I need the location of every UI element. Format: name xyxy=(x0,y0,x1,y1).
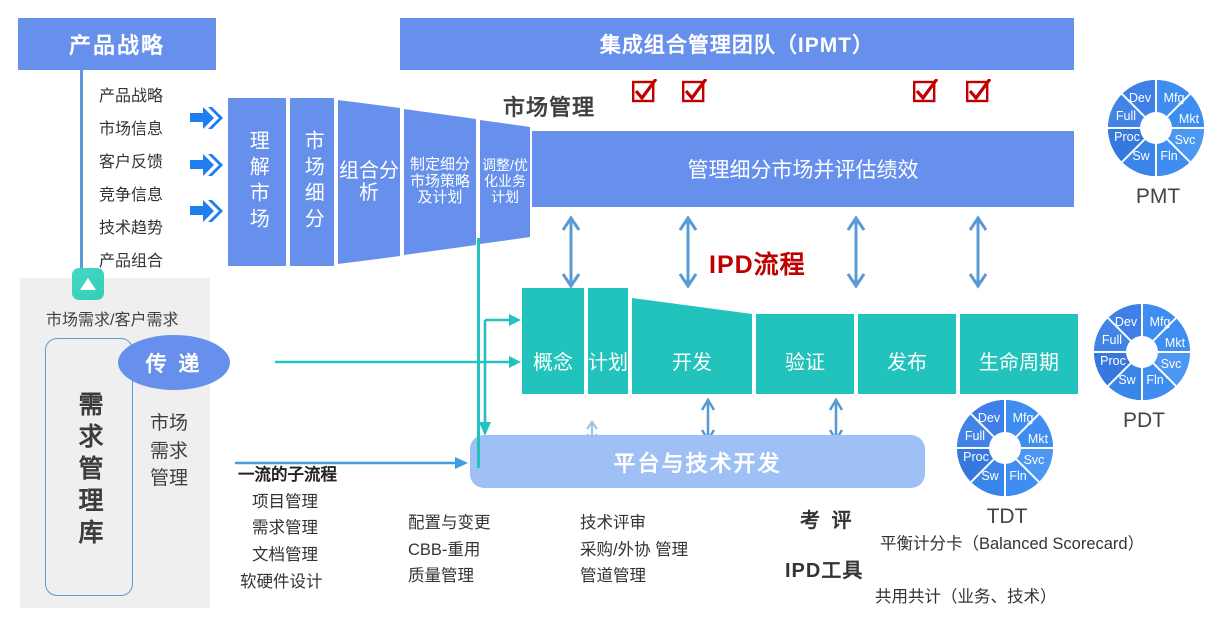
checkmark-icon xyxy=(632,79,657,103)
segment-label: Dev xyxy=(978,411,1001,425)
segment-label: Dev xyxy=(1129,91,1152,105)
product-strategy-header[interactable]: 产品战略 xyxy=(18,18,216,70)
ipd-stage-lifecycle[interactable]: 生命周期 xyxy=(960,340,1078,380)
checkmark-icon xyxy=(682,79,707,103)
team-donut-pmt[interactable]: Mfg Mkt Svc Fln Sw Proc Full Dev PMT xyxy=(1106,78,1209,209)
ipd-process-label: IPD流程 xyxy=(709,245,806,281)
segment-label: Mfg xyxy=(1164,91,1185,105)
tech-item: 管道管理 xyxy=(580,563,688,590)
subprocess-item: 软硬件设计 xyxy=(240,569,337,596)
funnel-stage-3[interactable]: 组合分析 xyxy=(338,102,400,262)
segment-label: Full xyxy=(965,429,985,443)
market-to-ipd-sync-arrows xyxy=(556,212,1076,292)
double-chevron-arrow-icon xyxy=(190,105,226,131)
config-item: CBB-重用 xyxy=(408,537,491,564)
funnel-stage-5[interactable]: 调整/优化业务计划 xyxy=(480,123,530,241)
upload-triangle-icon xyxy=(72,268,104,300)
mkt-strategy-down-connector xyxy=(477,238,480,468)
team-name-pdt: PDT xyxy=(1092,409,1196,433)
checkmark-icon xyxy=(913,79,938,103)
market-demand-mgmt-line: 需求 xyxy=(138,438,200,466)
tech-item: 采购/外协 管理 xyxy=(580,537,688,564)
ipd-stage-release[interactable]: 发布 xyxy=(858,340,956,380)
pdt-donut-icon: Mfg Mkt Svc Fln Sw Proc Full Dev xyxy=(1092,302,1192,402)
team-name-tdt: TDT xyxy=(955,505,1059,529)
market-management-label: 市场管理 xyxy=(503,90,595,122)
pmt-donut-icon: Mfg Mkt Svc Fln Sw Proc Full Dev xyxy=(1106,78,1206,178)
segment-label: Sw xyxy=(981,469,999,483)
segment-label: Full xyxy=(1116,109,1136,123)
double-chevron-arrow-icon xyxy=(190,152,226,178)
team-donut-pdt[interactable]: Mfg Mkt Svc Fln Sw Proc Full Dev PDT xyxy=(1092,302,1196,433)
platform-tech-dev-bar[interactable]: 平台与技术开发 xyxy=(470,435,925,488)
ipd-to-platform-sync-arrows xyxy=(580,396,860,440)
segment-label: Sw xyxy=(1118,373,1136,387)
tech-column: 技术评审 采购/外协 管理 管道管理 xyxy=(580,510,688,590)
demand-repository-text: 需求管理库 xyxy=(71,391,107,551)
team-name-pmt: PMT xyxy=(1106,185,1209,209)
subprocess-item: 文档管理 xyxy=(252,542,337,569)
segment-label: Proc xyxy=(963,450,989,464)
funnel-stage-2[interactable]: 市场细分 xyxy=(290,100,334,264)
segment-label: Fln xyxy=(1160,149,1177,163)
evaluation-title: 考 评 xyxy=(800,504,855,533)
checkmark-icon xyxy=(966,79,991,103)
funnel-stage-3-label: 组合分析 xyxy=(338,160,400,205)
config-item: 质量管理 xyxy=(408,563,491,590)
market-demand-mgmt-label: 市场 需求 管理 xyxy=(138,410,200,530)
subprocess-title: 一流的子流程 xyxy=(238,462,337,489)
market-demand-mgmt-line: 市场 xyxy=(138,410,200,438)
segment-label: Dev xyxy=(1115,315,1138,329)
balanced-scorecard-label: 平衡计分卡（Balanced Scorecard） xyxy=(880,530,1144,554)
deliver-oval[interactable]: 传 递 xyxy=(118,335,230,390)
subprocess-item: 需求管理 xyxy=(252,515,337,542)
subprocess-item: 项目管理 xyxy=(252,489,337,516)
segment-label: Svc xyxy=(1175,133,1196,147)
segment-label: Proc xyxy=(1114,130,1140,144)
tech-item: 技术评审 xyxy=(580,510,688,537)
segment-label: Svc xyxy=(1024,453,1045,467)
ipd-stage-verify[interactable]: 验证 xyxy=(756,340,854,380)
segment-label: Mkt xyxy=(1165,336,1186,350)
product-strategy-connector xyxy=(80,70,83,275)
market-demand-mgmt-line: 管理 xyxy=(138,465,200,493)
segment-label: Full xyxy=(1102,333,1122,347)
funnel-stage-4[interactable]: 制定细分市场策略及计划 xyxy=(404,112,476,252)
segment-label: Sw xyxy=(1132,149,1150,163)
ipd-tools-detail: 共用共计（业务、技术） xyxy=(875,583,1057,607)
ipmt-header[interactable]: 集成组合管理团队（IPMT） xyxy=(400,18,1074,70)
funnel-stage-1[interactable]: 理解市场 xyxy=(228,100,286,264)
input-item: 产品组合 xyxy=(99,245,209,278)
ipd-stage-plan[interactable]: 计划 xyxy=(588,340,628,380)
tdt-donut-icon: Mfg Mkt Svc Fln Sw Proc Full Dev xyxy=(955,398,1055,498)
segment-label: Mkt xyxy=(1028,432,1049,446)
demand-repository-label: 需求管理库 xyxy=(45,346,133,596)
segment-label: Svc xyxy=(1161,357,1182,371)
market-customer-demand-label: 市场需求/客户需求 xyxy=(46,306,178,330)
segment-label: Fln xyxy=(1146,373,1163,387)
manage-segments-bar[interactable]: 管理细分市场并评估绩效 xyxy=(532,131,1074,207)
config-column: 配置与变更 CBB-重用 质量管理 xyxy=(408,510,491,590)
segment-label: Mfg xyxy=(1013,411,1034,425)
diagram-canvas: 产品战略 集成组合管理团队（IPMT） 产品战略 市场信息 客户反馈 竞争信息 … xyxy=(0,0,1209,626)
team-donut-tdt[interactable]: Mfg Mkt Svc Fln Sw Proc Full Dev TDT xyxy=(955,398,1059,529)
ipd-stage-develop[interactable]: 开发 xyxy=(632,340,752,380)
segment-label: Fln xyxy=(1009,469,1026,483)
segment-label: Mkt xyxy=(1179,112,1200,126)
subprocess-column: 一流的子流程 项目管理 需求管理 文档管理 软硬件设计 xyxy=(238,462,337,596)
config-item: 配置与变更 xyxy=(408,510,491,537)
double-chevron-arrow-icon xyxy=(190,198,226,224)
segment-label: Mfg xyxy=(1150,315,1171,329)
segment-label: Proc xyxy=(1100,354,1126,368)
ipd-tools-title: IPD工具 xyxy=(785,554,863,583)
